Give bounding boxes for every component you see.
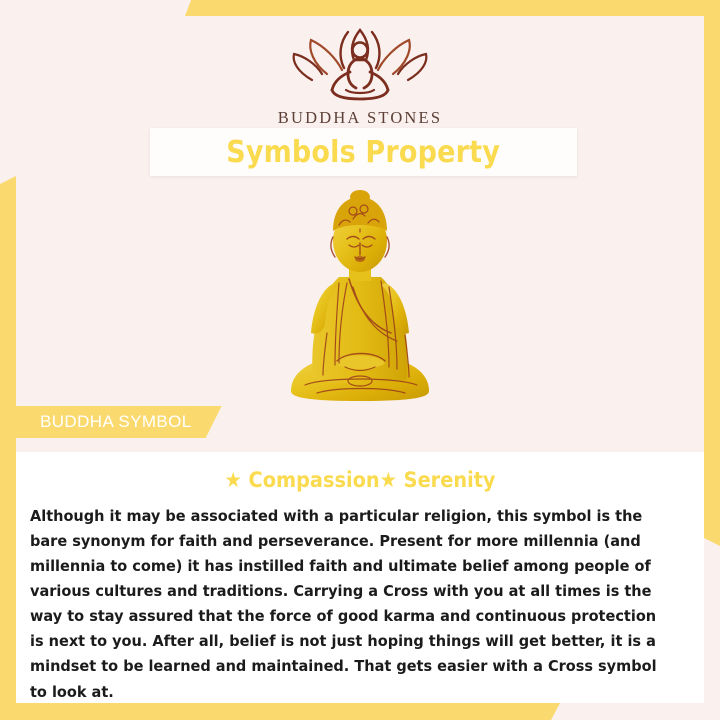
brand-wordmark: BUDDHA STONES xyxy=(0,108,720,128)
lotus-meditation-icon xyxy=(272,24,448,104)
content-panel: ★ Compassion★ Serenity Although it may b… xyxy=(16,452,704,703)
frame-bar-bottom xyxy=(0,703,560,720)
content-subtitle: ★ Compassion★ Serenity xyxy=(44,468,677,492)
page-title: Symbols Property xyxy=(227,135,501,170)
seated-buddha-statue-image xyxy=(265,183,455,405)
content-paragraph: Although it may be associated with a par… xyxy=(30,504,660,705)
title-banner: Symbols Property xyxy=(150,128,577,176)
category-badge-label: BUDDHA SYMBOL xyxy=(40,412,192,432)
poster-canvas: BUDDHA STONES Symbols Property xyxy=(0,0,720,720)
brand-logo: BUDDHA STONES xyxy=(0,24,720,128)
category-badge: BUDDHA SYMBOL xyxy=(16,406,222,438)
frame-bar-top xyxy=(185,0,720,16)
buddha-artwork xyxy=(0,180,720,405)
